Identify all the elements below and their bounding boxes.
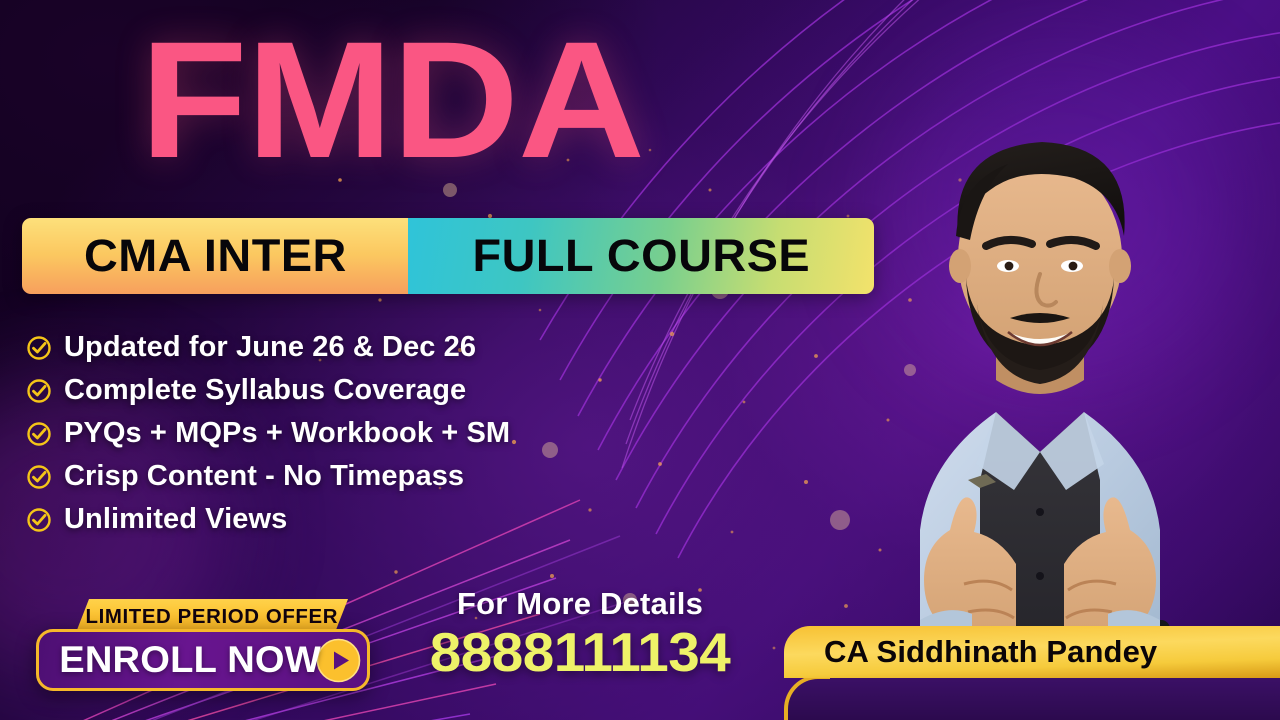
glow-blob-right (880, 40, 1240, 380)
check-circle-icon (26, 378, 52, 404)
instructor-name-label: CA Siddhinath Pandey (824, 634, 1157, 670)
list-item: PYQs + MQPs + Workbook + SM (26, 413, 626, 454)
promo-banner: FMDA CMA INTER FULL COURSE Updated for J… (0, 0, 1280, 720)
course-level-badge: CMA INTER (22, 218, 408, 294)
course-type-badge: FULL COURSE (408, 218, 874, 294)
instructor-photo (800, 60, 1280, 690)
list-item: Complete Syllabus Coverage (26, 370, 626, 411)
instructor-name-bar: CA Siddhinath Pandey (784, 626, 1280, 678)
contact-details-label: For More Details (420, 586, 740, 622)
feature-label: Unlimited Views (64, 503, 287, 536)
list-item: Unlimited Views (26, 499, 626, 540)
play-circle-icon[interactable] (315, 637, 362, 684)
contact-phone-number[interactable]: 8888111134 (415, 624, 745, 680)
check-circle-icon (26, 464, 52, 490)
enroll-now-label: ENROLL NOW (59, 639, 321, 681)
list-item: Crisp Content - No Timepass (26, 456, 626, 497)
list-item: Updated for June 26 & Dec 26 (26, 327, 626, 368)
limited-offer-label: LIMITED PERIOD OFFER (85, 606, 338, 629)
contact-block: For More Details 8888111134 (420, 586, 740, 680)
course-level-label: CMA INTER (84, 230, 347, 282)
check-circle-icon (26, 335, 52, 361)
feature-label: Crisp Content - No Timepass (64, 460, 464, 493)
page-title: FMDA (140, 18, 644, 184)
feature-list: Updated for June 26 & Dec 26 Complete Sy… (26, 327, 626, 542)
check-circle-icon (26, 507, 52, 533)
feature-label: Complete Syllabus Coverage (64, 374, 466, 407)
instructor-bar-base (784, 678, 1280, 720)
course-type-label: FULL COURSE (472, 230, 810, 282)
course-banner: CMA INTER FULL COURSE (22, 218, 874, 294)
check-circle-icon (26, 421, 52, 447)
enroll-now-button[interactable]: ENROLL NOW (36, 629, 370, 691)
feature-label: Updated for June 26 & Dec 26 (64, 331, 476, 364)
feature-label: PYQs + MQPs + Workbook + SM (64, 417, 510, 450)
